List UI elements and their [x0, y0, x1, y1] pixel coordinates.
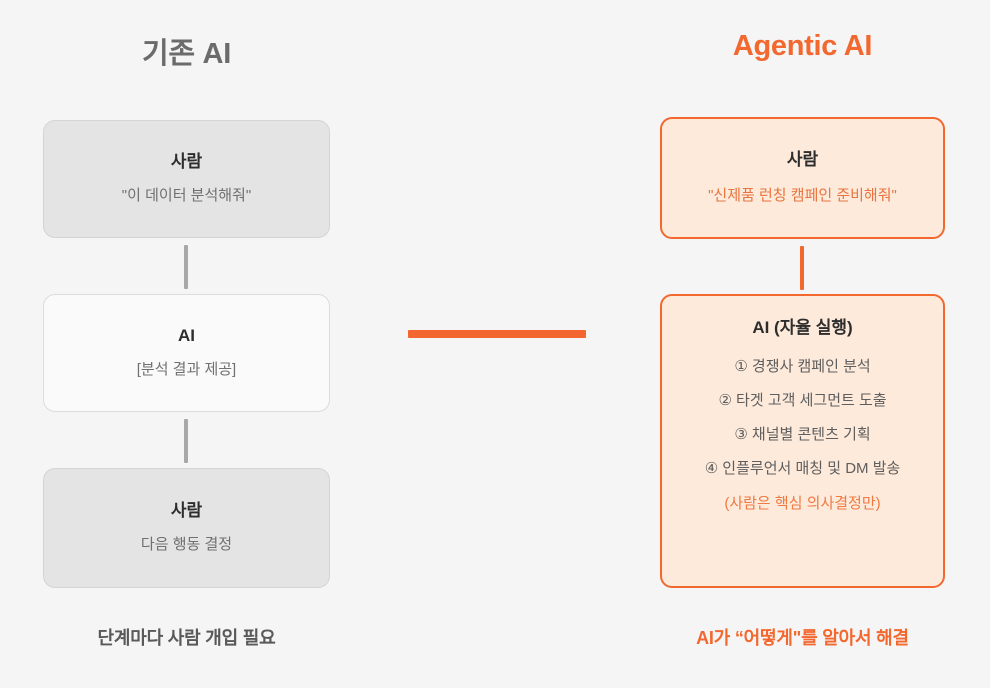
node-subtitle: "신제품 런칭 캠페인 준비해줘": [708, 186, 897, 206]
connector-traditional-1: [184, 245, 188, 289]
node-agentic-ai-autonomous: AI (자율 실행) ① 경쟁사 캠페인 분석 ② 타겟 고객 세그먼트 도출 …: [660, 294, 945, 588]
node-subtitle: 다음 행동 결정: [141, 535, 232, 555]
agentic-step-item: ③ 채널별 콘텐츠 기획: [662, 426, 943, 444]
transition-arrow-bar: [408, 330, 586, 338]
column-title-traditional-ai: 기존 AI: [43, 30, 330, 72]
agentic-step-item: ① 경쟁사 캠페인 분석: [662, 358, 943, 376]
node-subtitle: [분석 결과 제공]: [137, 360, 236, 380]
caption-agentic-ai: AI가 “어떻게"를 알아서 해결: [660, 624, 945, 650]
agentic-step-item: ④ 인플루언서 매칭 및 DM 발송: [662, 460, 943, 478]
node-title: AI: [178, 326, 195, 346]
node-subtitle: "이 데이터 분석해줘": [122, 186, 251, 206]
agentic-human-role-note: (사람은 핵심 의사결정만): [724, 495, 880, 513]
agentic-step-item: ② 타겟 고객 세그먼트 도출: [662, 392, 943, 410]
connector-agentic-1: [800, 246, 804, 290]
node-title: AI (자율 실행): [752, 318, 852, 338]
column-title-agentic-ai: Agentic AI: [660, 30, 945, 63]
connector-traditional-2: [184, 419, 188, 463]
caption-traditional-ai: 단계마다 사람 개입 필요: [43, 624, 330, 650]
diagram-canvas: 기존 AI Agentic AI 사람 "이 데이터 분석해줘" AI [분석 …: [0, 0, 990, 688]
node-agentic-human-request: 사람 "신제품 런칭 캠페인 준비해줘": [660, 117, 945, 239]
node-title: 사람: [171, 501, 202, 521]
node-traditional-ai-response: AI [분석 결과 제공]: [43, 294, 330, 412]
node-traditional-human-request: 사람 "이 데이터 분석해줘": [43, 120, 330, 238]
agentic-step-list: ① 경쟁사 캠페인 분석 ② 타겟 고객 세그먼트 도출 ③ 채널별 콘텐츠 기…: [662, 358, 943, 478]
node-traditional-human-decision: 사람 다음 행동 결정: [43, 468, 330, 588]
node-title: 사람: [787, 150, 818, 170]
node-title: 사람: [171, 152, 202, 172]
